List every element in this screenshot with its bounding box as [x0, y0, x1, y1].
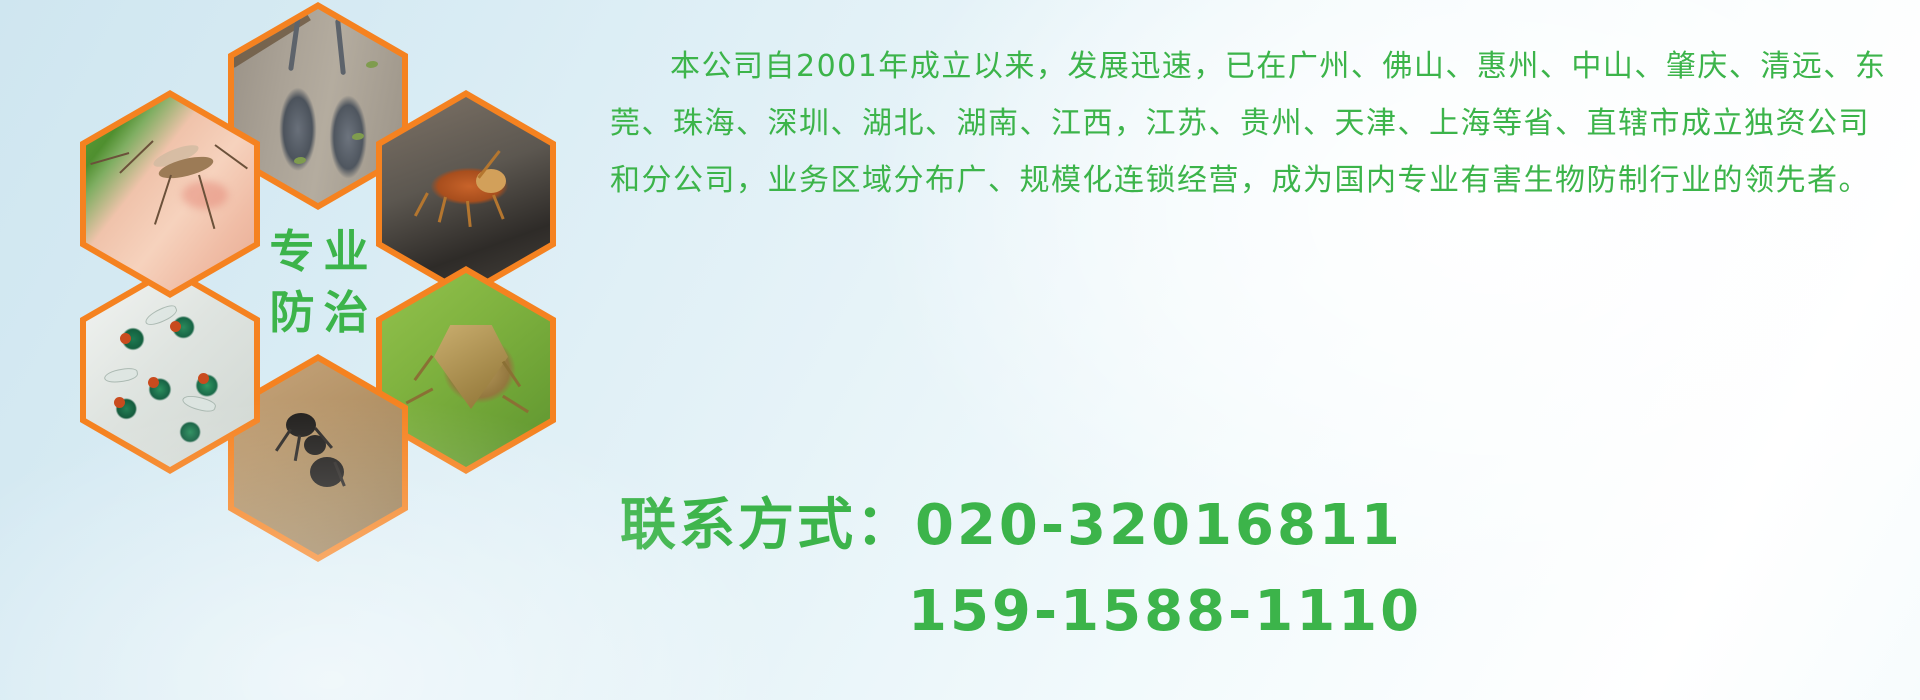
contact-block: 联系方式：020-32016811 159-1588-1110	[620, 480, 1422, 644]
honeycomb-gallery: 专业 防治	[78, 0, 598, 574]
contact-landline[interactable]: 联系方式：020-32016811	[620, 480, 1422, 561]
center-label-line-1: 专业	[260, 228, 377, 275]
center-label-line-2: 防治	[260, 289, 377, 336]
promo-banner: 专业 防治 本公司自2001年成立以来，发展迅速，已在广州、佛山、惠州、中山、肇…	[0, 0, 1920, 700]
company-description-text: 本公司自2001年成立以来，发展迅速，已在广州、佛山、惠州、中山、肇庆、清远、东…	[610, 38, 1900, 209]
contact-mobile[interactable]: 159-1588-1110	[620, 579, 1422, 644]
company-description: 本公司自2001年成立以来，发展迅速，已在广州、佛山、惠州、中山、肇庆、清远、东…	[610, 38, 1900, 209]
